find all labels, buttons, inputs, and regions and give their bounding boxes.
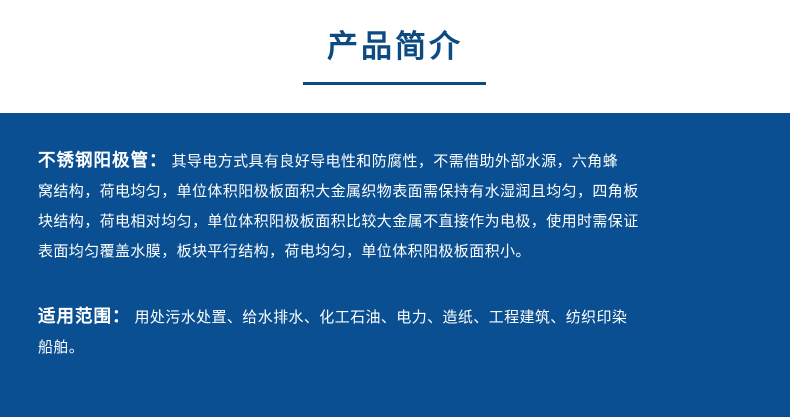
intro-line-2: 窝结构，荷电均匀，单位体积阳极板面积大金属织物表面需保持有水湿润且均匀，四角板 [38,176,754,206]
scope-block: 适用范围：用处污水处置、给水排水、化工石油、电力、造纸、工程建筑、纺织印染 船舶… [38,302,754,362]
intro-paragraph: 不锈钢阳极管：其导电方式具有良好导电性和防腐性，不需借助外部水源，六角蜂 窝结构… [38,146,754,266]
header-section: 产品简介 [0,0,790,113]
intro-lead-label: 不锈钢阳极管： [38,151,168,171]
page-title: 产品简介 [0,26,790,68]
scope-line-1-text: 用处污水处置、给水排水、化工石油、电力、造纸、工程建筑、纺织印染 [135,308,628,326]
intro-line-1-text: 其导电方式具有良好导电性和防腐性，不需借助外部水源，六角蜂 [172,152,619,170]
scope-line-1: 适用范围：用处污水处置、给水排水、化工石油、电力、造纸、工程建筑、纺织印染 [38,302,754,332]
title-underline [303,82,486,85]
scope-line-2: 船舶。 [38,332,754,362]
scope-lead-label: 适用范围： [38,307,131,327]
product-intro-banner: 产品简介 不锈钢阳极管：其导电方式具有良好导电性和防腐性，不需借助外部水源，六角… [0,0,790,417]
scope-paragraph: 适用范围：用处污水处置、给水排水、化工石油、电力、造纸、工程建筑、纺织印染 船舶… [38,302,754,362]
intro-line-3: 块结构，荷电相对均匀，单位体积阳极板面积比较大金属不直接作为电极，使用时需保证 [38,206,754,236]
content-panel: 不锈钢阳极管：其导电方式具有良好导电性和防腐性，不需借助外部水源，六角蜂 窝结构… [0,113,790,417]
intro-line-4: 表面均匀覆盖水膜，板块平行结构，荷电均匀，单位体积阳极板面积小。 [38,236,754,266]
intro-line-1: 不锈钢阳极管：其导电方式具有良好导电性和防腐性，不需借助外部水源，六角蜂 [38,146,754,176]
intro-block: 不锈钢阳极管：其导电方式具有良好导电性和防腐性，不需借助外部水源，六角蜂 窝结构… [38,146,754,266]
